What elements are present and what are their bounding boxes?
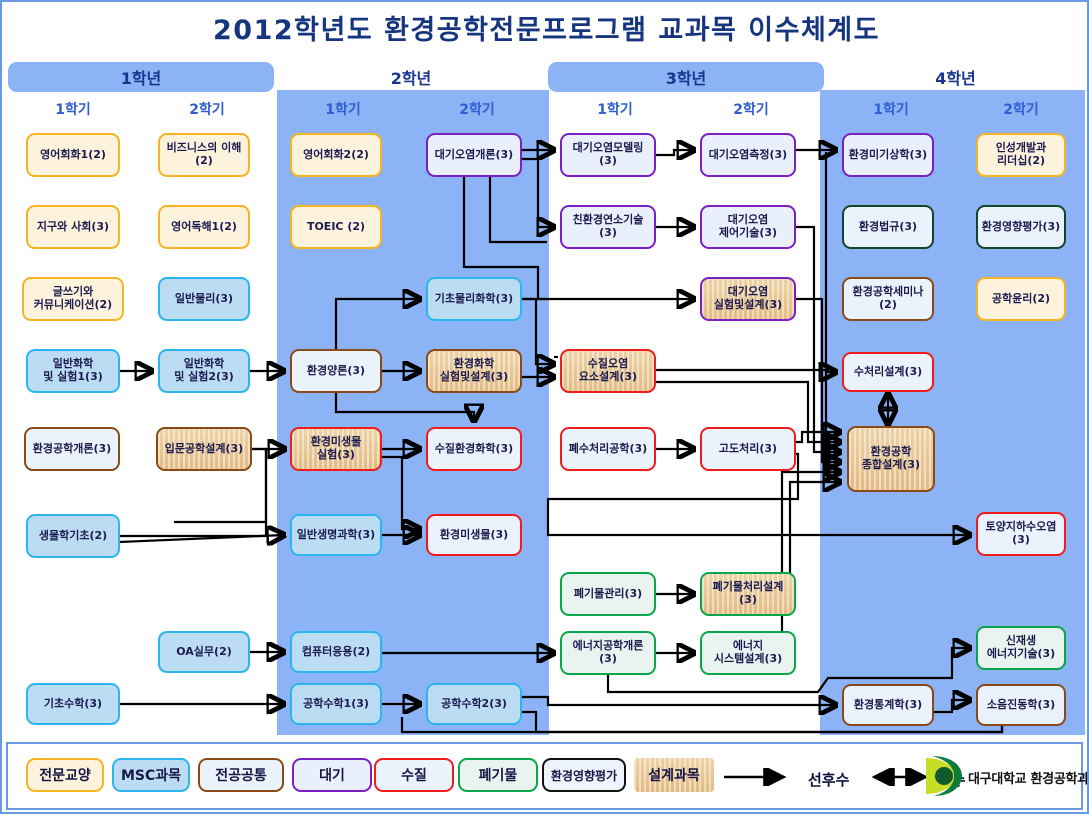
course-box-wqchem[interactable]: 수질환경화학(3) xyxy=(426,427,522,471)
semester-header-4-2: 2학기 xyxy=(957,98,1085,120)
course-box-chem2[interactable]: 일반화학및 실험2(3) xyxy=(158,349,250,393)
semester-header-4-1: 1학기 xyxy=(826,98,956,120)
course-box-noise[interactable]: 소음진동학(3) xyxy=(976,684,1066,726)
course-box-solidd[interactable]: 폐기물처리설계(3) xyxy=(700,572,796,616)
course-box-phys[interactable]: 일반물리(3) xyxy=(158,277,250,321)
university-name: 대구대학교 환경공학과 xyxy=(968,768,1089,787)
course-box-adv[interactable]: 고도처리(3) xyxy=(700,427,796,471)
course-box-micro[interactable]: 환경미기상학(3) xyxy=(842,133,934,177)
semester-header-1-1: 1학기 xyxy=(8,98,138,120)
course-box-biz[interactable]: 비즈니스의 이해(2) xyxy=(158,133,250,177)
course-box-engr1[interactable]: 영어독해1(2) xyxy=(158,205,250,249)
year-header-label: 3학년 xyxy=(666,65,707,89)
legend-item-air[interactable]: 대기 xyxy=(292,758,372,792)
course-box-ethics[interactable]: 공학윤리(2) xyxy=(976,277,1066,321)
course-box-airint[interactable]: 대기오염개론(3) xyxy=(426,133,522,177)
university-logo-icon xyxy=(922,754,968,798)
course-box-wqdes[interactable]: 수질오염요소설계(3) xyxy=(560,349,656,393)
legend-item-msc[interactable]: MSC과목 xyxy=(112,758,190,792)
course-box-eng2[interactable]: 영어회화2(2) xyxy=(290,133,382,177)
course-box-envint[interactable]: 환경공학개론(3) xyxy=(24,427,120,471)
course-box-soil[interactable]: 토양지하수오염(3) xyxy=(976,512,1066,556)
course-box-envmic[interactable]: 환경미생물(3) xyxy=(426,514,522,556)
course-box-chem1[interactable]: 일반화학및 실험1(3) xyxy=(26,349,120,393)
course-box-waste1[interactable]: 폐수처리공학(3) xyxy=(560,427,656,471)
course-box-eng1[interactable]: 영어회화1(2) xyxy=(26,133,120,177)
course-box-airmod[interactable]: 대기오염모델링(3) xyxy=(560,133,656,177)
course-box-pchem[interactable]: 기초물리화학(3) xyxy=(426,277,522,321)
course-box-airctrl[interactable]: 대기오염제어기술(3) xyxy=(700,205,796,249)
course-box-math2[interactable]: 공학수학2(3) xyxy=(426,683,522,725)
year-header-1: 1학년 xyxy=(8,62,274,92)
course-box-genlife[interactable]: 일반생명과학(3) xyxy=(290,514,382,556)
year-header-3: 3학년 xyxy=(548,62,824,92)
semester-header-3-1: 1학기 xyxy=(550,98,680,120)
course-box-math0[interactable]: 기초수학(3) xyxy=(26,683,120,725)
course-box-micexp[interactable]: 환경미생물실험(3) xyxy=(290,427,382,471)
semester-header-2-2: 2학기 xyxy=(412,98,542,120)
legend-item-gened[interactable]: 전문교양 xyxy=(26,758,104,792)
course-box-toeic[interactable]: TOEIC (2) xyxy=(290,205,382,249)
course-box-solid[interactable]: 폐기물관리(3) xyxy=(560,572,656,616)
semester-header-1-2: 2학기 xyxy=(142,98,272,120)
course-box-oa[interactable]: OA실무(2) xyxy=(158,631,250,673)
course-box-semi[interactable]: 환경공학세미나(2) xyxy=(842,277,934,321)
legend-item-waste[interactable]: 폐기물 xyxy=(458,758,538,792)
course-box-math1[interactable]: 공학수학1(3) xyxy=(290,683,382,725)
legend-item-design[interactable]: 설계과목 xyxy=(634,758,714,792)
year-header-4: 4학년 xyxy=(826,62,1085,92)
page-title: 2012학년도 환경공학전문프로그램 교과목 이수체계도 xyxy=(2,8,1089,47)
course-box-energys[interactable]: 에너지시스템설계(3) xyxy=(700,631,796,675)
course-box-eia[interactable]: 환경영향평가(3) xyxy=(976,205,1066,249)
year-header-2: 2학년 xyxy=(278,62,544,92)
course-box-introd[interactable]: 입문공학설계(3) xyxy=(156,427,252,471)
year-header-label: 1학년 xyxy=(121,65,162,89)
course-box-law[interactable]: 환경법규(3) xyxy=(842,205,934,249)
course-box-echemex[interactable]: 환경화학실험및설계(3) xyxy=(426,349,522,393)
course-box-bio[interactable]: 생물학기초(2) xyxy=(26,514,120,558)
course-box-envchem[interactable]: 환경양론(3) xyxy=(290,349,382,393)
legend-item-water[interactable]: 수질 xyxy=(374,758,454,792)
prereq-arrow-icon xyxy=(722,768,872,786)
course-box-earth[interactable]: 지구와 사회(3) xyxy=(26,205,120,249)
course-box-airmeas[interactable]: 대기오염측정(3) xyxy=(700,133,796,177)
course-box-green[interactable]: 친환경연소기술(3) xyxy=(560,205,656,249)
legend-item-common[interactable]: 전공공통 xyxy=(198,758,284,792)
year-header-label: 4학년 xyxy=(935,65,976,89)
course-box-capst[interactable]: 환경공학종합설계(3) xyxy=(847,426,935,492)
semester-header-3-2: 2학기 xyxy=(686,98,816,120)
course-box-stat[interactable]: 환경통계학(3) xyxy=(842,684,934,726)
legend-item-eia[interactable]: 환경영향평가 xyxy=(542,758,626,792)
year-header-label: 2학년 xyxy=(391,65,432,89)
course-box-wtdes[interactable]: 수처리설계(3) xyxy=(842,352,934,392)
curriculum-flowchart-page: 2012학년도 환경공학전문프로그램 교과목 이수체계도 1학년 2학년 3학년… xyxy=(0,0,1089,814)
prereq-label: 선후수 xyxy=(808,769,849,790)
semester-header-2-1: 1학기 xyxy=(278,98,408,120)
course-box-energy[interactable]: 에너지공학개론(3) xyxy=(560,631,656,675)
course-box-leader[interactable]: 인성개발과리더십(2) xyxy=(976,133,1066,177)
course-box-renew[interactable]: 신재생에너지기술(3) xyxy=(976,626,1066,670)
course-box-airexp[interactable]: 대기오염실험및설계(3) xyxy=(700,277,796,321)
course-box-write[interactable]: 글쓰기와커뮤니케이션(2) xyxy=(22,277,124,321)
course-box-comp[interactable]: 컴퓨터응용(2) xyxy=(290,631,382,673)
